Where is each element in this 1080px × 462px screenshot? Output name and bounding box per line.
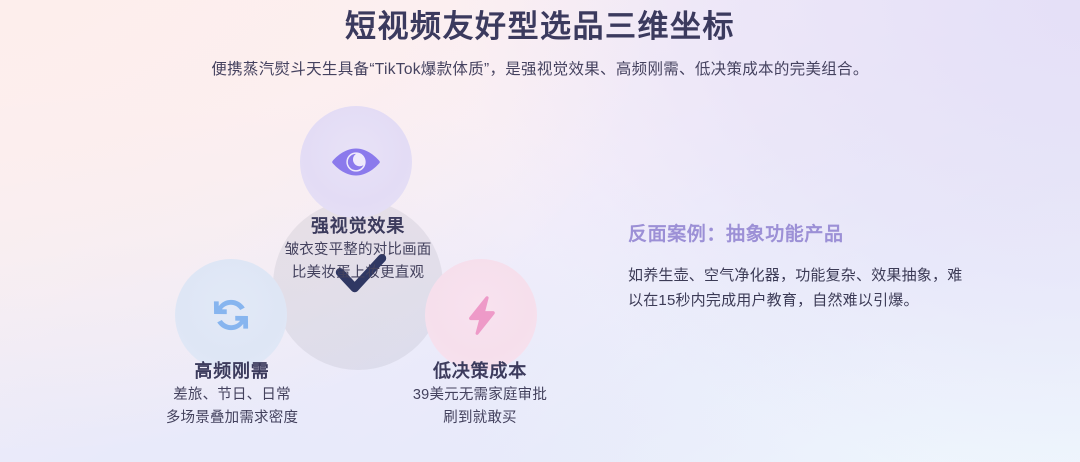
venn-label-visual-title: 强视觉效果 <box>248 214 468 239</box>
lightning-icon <box>456 290 506 340</box>
venn-label-cost: 低决策成本 39美元无需家庭审批 刷到就敢买 <box>370 359 590 429</box>
page-title: 短视频友好型选品三维坐标 <box>0 6 1080 48</box>
venn-diagram: 强视觉效果 皱衣变平整的对比画面 比美妆蛋上妆更直观 高频刚需 差旅、节日、日常… <box>120 104 590 404</box>
venn-label-demand-line-2: 多场景叠加需求密度 <box>122 407 342 429</box>
venn-label-demand: 高频刚需 差旅、节日、日常 多场景叠加需求密度 <box>122 359 342 429</box>
venn-label-demand-title: 高频刚需 <box>122 359 342 384</box>
venn-label-demand-line-1: 差旅、节日、日常 <box>122 384 342 406</box>
venn-label-visual: 强视觉效果 皱衣变平整的对比画面 比美妆蛋上妆更直观 <box>248 214 468 284</box>
refresh-icon <box>206 290 256 340</box>
venn-label-visual-line-2: 比美妆蛋上妆更直观 <box>248 262 468 284</box>
counter-example-body: 如养生壶、空气净化器，功能复杂、效果抽象，难以在15秒内完成用户教育，自然难以引… <box>628 263 968 315</box>
counter-example-heading: 反面案例：抽象功能产品 <box>628 222 968 249</box>
venn-label-cost-line-1: 39美元无需家庭审批 <box>370 384 590 406</box>
venn-label-visual-line-1: 皱衣变平整的对比画面 <box>248 239 468 261</box>
page-subtitle: 便携蒸汽熨斗天生具备“TikTok爆款体质”，是强视觉效果、高频刚需、低决策成本… <box>0 58 1080 81</box>
venn-label-cost-line-2: 刷到就敢买 <box>370 407 590 429</box>
venn-label-cost-title: 低决策成本 <box>370 359 590 384</box>
header: 短视频友好型选品三维坐标 便携蒸汽熨斗天生具备“TikTok爆款体质”，是强视觉… <box>0 6 1080 81</box>
slide-canvas: 短视频友好型选品三维坐标 便携蒸汽熨斗天生具备“TikTok爆款体质”，是强视觉… <box>0 0 1080 462</box>
venn-bubble-visual <box>300 106 412 218</box>
counter-example-panel: 反面案例：抽象功能产品 如养生壶、空气净化器，功能复杂、效果抽象，难以在15秒内… <box>628 222 968 314</box>
eye-icon <box>329 135 383 189</box>
